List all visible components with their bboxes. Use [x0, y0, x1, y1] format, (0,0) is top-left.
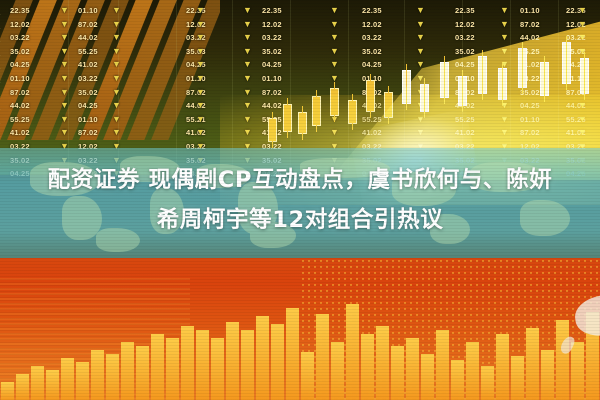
- bar: [286, 308, 299, 400]
- ticker-value: 41.02: [10, 126, 30, 140]
- ticker-value: 03.22: [362, 31, 382, 45]
- down-arrow-icon: ▼: [330, 45, 339, 59]
- ticker-value: 01.10: [10, 72, 30, 86]
- bar: [376, 326, 389, 400]
- down-arrow-icon: ▼: [60, 45, 69, 59]
- ticker-value: 12.02: [10, 18, 30, 32]
- ticker-value: 87.02: [10, 86, 30, 100]
- ticker-value: 04.25: [262, 58, 282, 72]
- ticker-value: 22.35: [362, 4, 382, 18]
- ticker-value: 44.02: [78, 31, 98, 45]
- ticker-value: 01.10: [78, 4, 98, 18]
- bottom-chart-band: [0, 258, 600, 400]
- ticker-value: 12.02: [262, 18, 282, 32]
- ticker-value: 03.22: [10, 31, 30, 45]
- down-arrow-icon: ▼: [243, 31, 252, 45]
- ticker-value: 03.22: [78, 72, 98, 86]
- ticker-value: 35.02: [262, 45, 282, 59]
- down-arrow-icon: ▼: [60, 18, 69, 32]
- down-arrow-icon: ▼: [60, 31, 69, 45]
- bar: [556, 320, 569, 400]
- ticker-value: 35.02: [78, 86, 98, 100]
- bar: [271, 324, 284, 400]
- ticker-value: 55.25: [78, 45, 98, 59]
- down-arrow-icon: ▼: [416, 31, 425, 45]
- bar: [526, 328, 539, 400]
- ticker-value: 22.35: [262, 4, 282, 18]
- down-arrow-icon: ▼: [112, 86, 121, 100]
- ticker-value: 12.02: [455, 18, 475, 32]
- down-arrow-icon: ▼: [60, 58, 69, 72]
- down-arrow-icon: ▼: [112, 18, 121, 32]
- down-arrow-icon: ▼: [578, 4, 587, 18]
- ticker-value: 22.35: [455, 4, 475, 18]
- bar: [256, 316, 269, 400]
- banner-image: 22.3512.0203.2235.0204.2501.1087.0244.02…: [0, 0, 600, 400]
- ticker-value: 04.25: [10, 58, 30, 72]
- down-arrow-icon: ▼: [416, 45, 425, 59]
- bar: [76, 362, 89, 400]
- bar: [91, 350, 104, 400]
- bar: [211, 338, 224, 400]
- bar: [436, 330, 449, 400]
- down-arrow-icon: ▼: [500, 18, 509, 32]
- bar: [121, 342, 134, 400]
- bar: [61, 358, 74, 400]
- bar: [1, 382, 14, 400]
- ticker-value: 35.02: [362, 45, 382, 59]
- down-arrow-icon: ▼: [416, 4, 425, 18]
- bar: [181, 326, 194, 400]
- down-arrow-icon: ▼: [60, 126, 69, 140]
- ticker-value: 55.25: [10, 113, 30, 127]
- bar: [541, 350, 554, 400]
- down-arrow-icon: ▼: [196, 99, 205, 113]
- bar: [136, 346, 149, 400]
- bar: [481, 366, 494, 400]
- down-arrow-icon: ▼: [196, 58, 205, 72]
- ticker-value: 03.22: [262, 31, 282, 45]
- bar: [301, 352, 314, 400]
- ticker-value: 03.22: [455, 31, 475, 45]
- down-arrow-icon: ▼: [60, 86, 69, 100]
- down-arrow-icon: ▼: [416, 18, 425, 32]
- down-arrow-icon: ▼: [112, 58, 121, 72]
- down-arrow-icon: ▼: [330, 4, 339, 18]
- down-arrow-icon: ▼: [60, 99, 69, 113]
- down-arrow-icon: ▼: [500, 31, 509, 45]
- bar-chart: [0, 290, 600, 400]
- down-arrow-icon: ▼: [112, 31, 121, 45]
- down-arrow-icon: ▼: [196, 126, 205, 140]
- down-arrow-icon: ▼: [196, 4, 205, 18]
- down-arrow-icon: ▼: [196, 72, 205, 86]
- ticker-value: 12.02: [362, 18, 382, 32]
- headline-line-2: 希周柯宇等12对组合引热议: [0, 200, 600, 240]
- bar: [166, 338, 179, 400]
- down-arrow-icon: ▼: [330, 58, 339, 72]
- down-arrow-icon: ▼: [112, 45, 121, 59]
- down-arrow-icon: ▼: [243, 45, 252, 59]
- ticker-value: 04.25: [362, 58, 382, 72]
- down-arrow-icon: ▼: [112, 4, 121, 18]
- bar: [46, 370, 59, 400]
- ticker-value: 35.02: [10, 45, 30, 59]
- bar: [31, 366, 44, 400]
- bar: [226, 322, 239, 400]
- ticker-value: 87.02: [78, 126, 98, 140]
- ticker-value: 22.35: [10, 4, 30, 18]
- down-arrow-icon: ▼: [60, 4, 69, 18]
- bar: [196, 330, 209, 400]
- ticker-value: 04.25: [78, 99, 98, 113]
- bar: [346, 304, 359, 400]
- down-arrow-icon: ▼: [330, 31, 339, 45]
- down-arrow-icon: ▼: [60, 113, 69, 127]
- down-arrow-icon: ▼: [60, 72, 69, 86]
- down-arrow-icon: ▼: [196, 31, 205, 45]
- down-arrow-icon: ▼: [330, 18, 339, 32]
- down-arrow-icon: ▼: [243, 4, 252, 18]
- bar: [511, 356, 524, 400]
- down-arrow-icon: ▼: [196, 113, 205, 127]
- down-arrow-icon: ▼: [243, 72, 252, 86]
- bar: [151, 334, 164, 400]
- ticker-value: 44.02: [10, 99, 30, 113]
- bar: [316, 314, 329, 400]
- down-arrow-icon: ▼: [112, 113, 121, 127]
- ticker-value: 01.10: [78, 113, 98, 127]
- bar: [421, 354, 434, 400]
- down-arrow-icon: ▼: [196, 45, 205, 59]
- down-arrow-icon: ▼: [196, 86, 205, 100]
- bar: [331, 342, 344, 400]
- ticker-value: 87.02: [520, 18, 540, 32]
- down-arrow-icon: ▼: [112, 72, 121, 86]
- down-arrow-icon: ▼: [243, 58, 252, 72]
- ticker-value: 87.02: [78, 18, 98, 32]
- ticker-value: 01.10: [520, 4, 540, 18]
- bar: [406, 338, 419, 400]
- bar: [451, 360, 464, 400]
- page-title: 配资证券 现偶剧CP互动盘点，虞书欣何与、陈妍 希周柯宇等12对组合引热议: [0, 160, 600, 240]
- down-arrow-icon: ▼: [243, 18, 252, 32]
- ticker-value: 41.02: [78, 58, 98, 72]
- ticker-value: 01.10: [262, 72, 282, 86]
- bar: [16, 374, 29, 400]
- bar: [466, 342, 479, 400]
- bar: [496, 334, 509, 400]
- down-arrow-icon: ▼: [500, 4, 509, 18]
- down-arrow-icon: ▼: [112, 99, 121, 113]
- bar: [571, 342, 584, 400]
- bar: [361, 334, 374, 400]
- bar: [391, 346, 404, 400]
- headline-line-1: 配资证券 现偶剧CP互动盘点，虞书欣何与、陈妍: [0, 160, 600, 200]
- bar: [106, 354, 119, 400]
- down-arrow-icon: ▼: [112, 126, 121, 140]
- down-arrow-icon: ▼: [196, 18, 205, 32]
- bar: [241, 330, 254, 400]
